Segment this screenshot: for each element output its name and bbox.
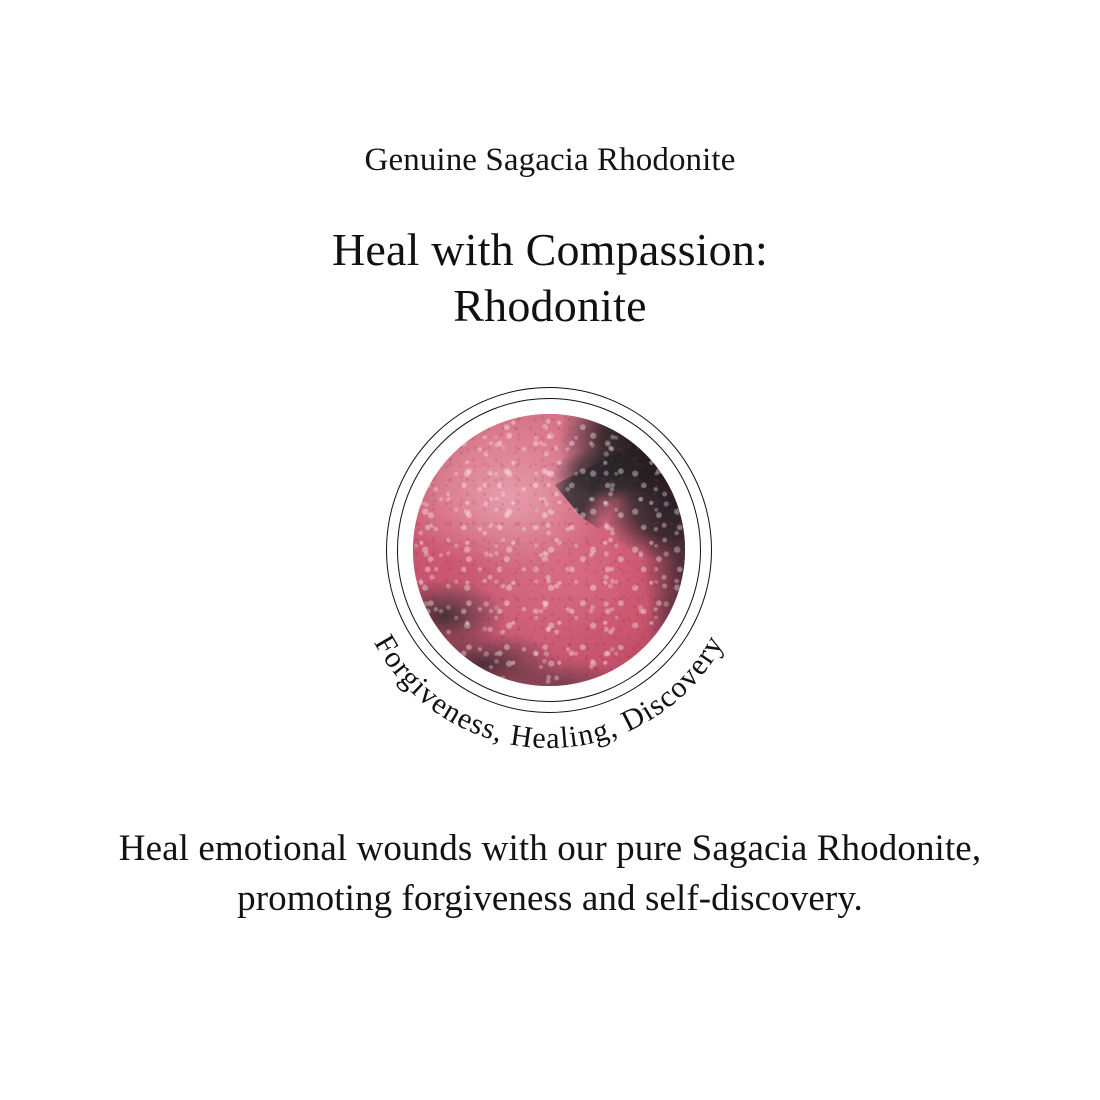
page-title: Heal with Compassion: Rhodonite	[0, 222, 1100, 334]
product-eyebrow: Genuine Sagacia Rhodonite	[0, 142, 1100, 179]
product-caption: Heal emotional wounds with our pure Saga…	[0, 824, 1100, 925]
title-line-secondary: Rhodonite	[0, 278, 1100, 334]
title-line-primary: Heal with Compassion:	[0, 222, 1100, 278]
caption-line-2: promoting forgiveness and self-discovery…	[0, 874, 1100, 924]
caption-line-1: Heal emotional wounds with our pure Saga…	[0, 824, 1100, 874]
product-card: Genuine Sagacia Rhodonite Heal with Comp…	[0, 0, 1100, 1100]
stone-shading-layer	[413, 414, 685, 686]
rhodonite-stone-image	[413, 414, 685, 686]
